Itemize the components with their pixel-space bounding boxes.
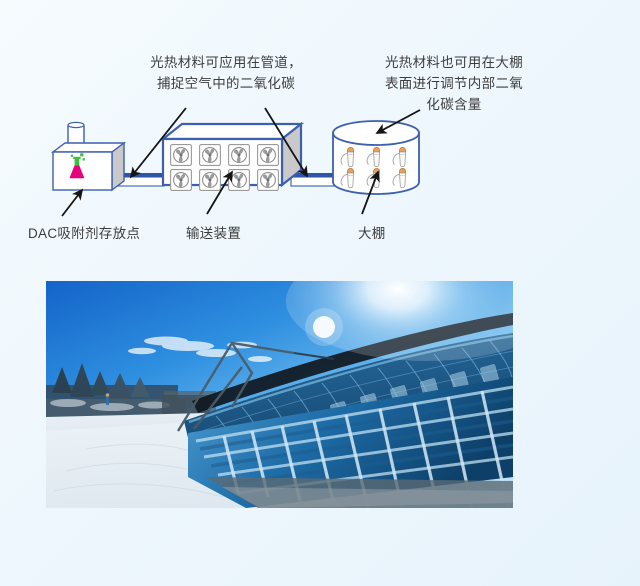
fan-icon: [171, 145, 192, 166]
fan-icon: [229, 145, 250, 166]
fan-icon: [258, 170, 279, 191]
dac-storage-building: [53, 122, 124, 190]
greenhouse-cylinder: [333, 121, 419, 194]
fan-icon: [200, 170, 221, 191]
page-root: 光热材料可应用在管道， 捕捉空气中的二氧化碳 光热材料也可用在大棚 表面进行调节…: [0, 0, 640, 586]
fan-icon: [171, 170, 192, 191]
pipe-conveyor-to-greenhouse: [291, 173, 335, 186]
winter-greenhouse-photo: [46, 281, 513, 508]
process-diagram: [0, 0, 640, 260]
fan-icon: [200, 145, 221, 166]
arrow-label-dac: [62, 190, 82, 216]
fan-icon: [258, 145, 279, 166]
winter-greenhouse-photo-graphic: [46, 281, 513, 508]
